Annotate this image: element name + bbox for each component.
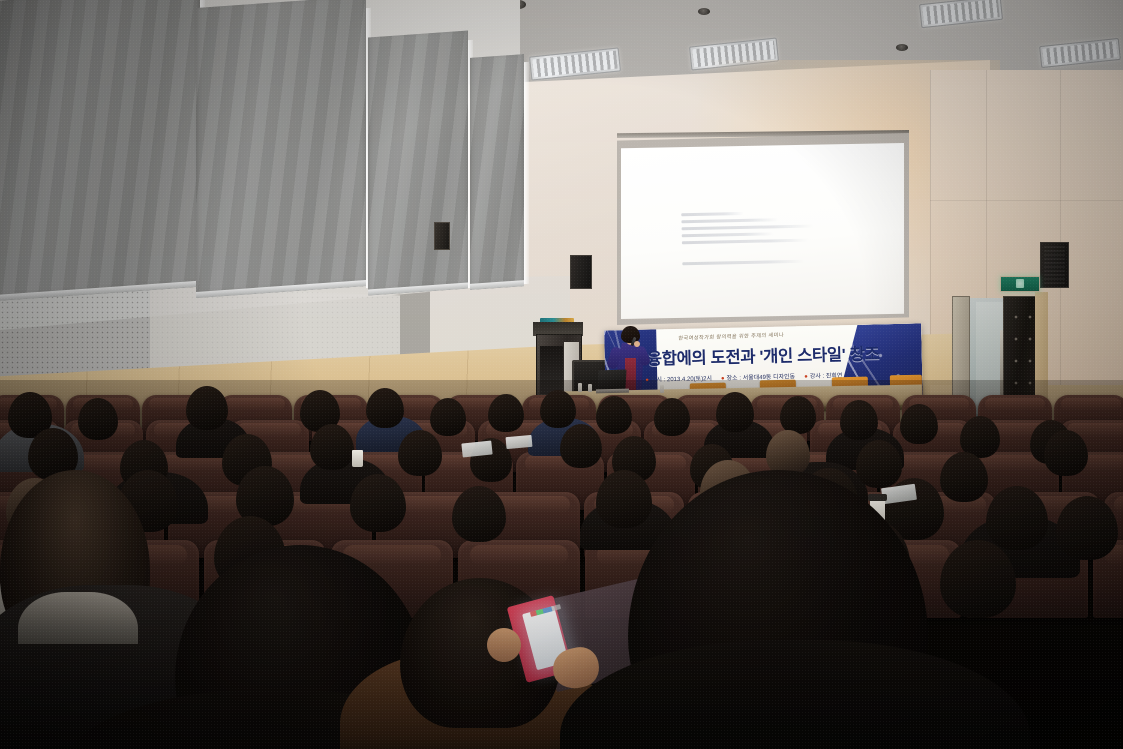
slide-text-line: [681, 218, 778, 223]
audience-head: [780, 396, 816, 434]
audience-head: [186, 386, 228, 430]
audience-head: [350, 474, 406, 532]
window-blind-3[interactable]: [470, 54, 524, 290]
audience-head: [840, 400, 878, 440]
foreground-person-far-left-collar: [18, 592, 138, 644]
downlight-5: [896, 44, 908, 51]
audience-head: [596, 396, 632, 434]
window-blind-0[interactable]: [0, 0, 200, 301]
exit-sign-icon: [1000, 276, 1040, 292]
banner-subtitle: 한국여성작가회 창의력을 위한 주제의 세미나: [678, 329, 869, 342]
downlight-3: [698, 8, 710, 15]
projected-slide-text: [681, 211, 802, 283]
audience-head: [716, 392, 754, 432]
window-light-gap-3: [524, 62, 529, 284]
speaker-icon-front-left: [570, 255, 592, 289]
audience-head: [452, 486, 506, 542]
window-blind-2[interactable]: [368, 31, 468, 296]
audience-head: [398, 430, 442, 476]
audience-head: [366, 388, 404, 428]
audience-head: [596, 470, 652, 528]
slide-text-line: [682, 239, 809, 245]
slide-text-line: [682, 232, 774, 237]
audience-head: [430, 398, 466, 436]
audience-head: [78, 398, 118, 440]
speaker-icon-right-wall: [1040, 242, 1069, 288]
coffee-cup-lid: [868, 494, 887, 501]
audience-head: [488, 394, 524, 432]
speaker-icon-front-far-left: [434, 222, 450, 250]
handout-paper: [506, 435, 533, 449]
lecture-hall-photograph: 한국여성작가회 창의력을 위한 주제의 세미나 융합에의 도전과 '개인 스타일…: [0, 0, 1123, 749]
coffee-cup-2: [352, 450, 363, 467]
audience-head: [654, 398, 690, 436]
presenter-hand: [634, 341, 640, 347]
slide-text-line: [681, 212, 743, 216]
slide-text-line: [682, 224, 814, 230]
audience-head: [540, 390, 576, 428]
audience-head: [900, 404, 938, 444]
audience-head: [940, 452, 988, 502]
slide-text-line: [682, 260, 804, 266]
audience-head: [1044, 430, 1088, 476]
window-blind-1[interactable]: [196, 0, 366, 298]
audience-head: [856, 440, 902, 488]
audience-head: [560, 424, 602, 468]
audience-head: [310, 424, 354, 470]
